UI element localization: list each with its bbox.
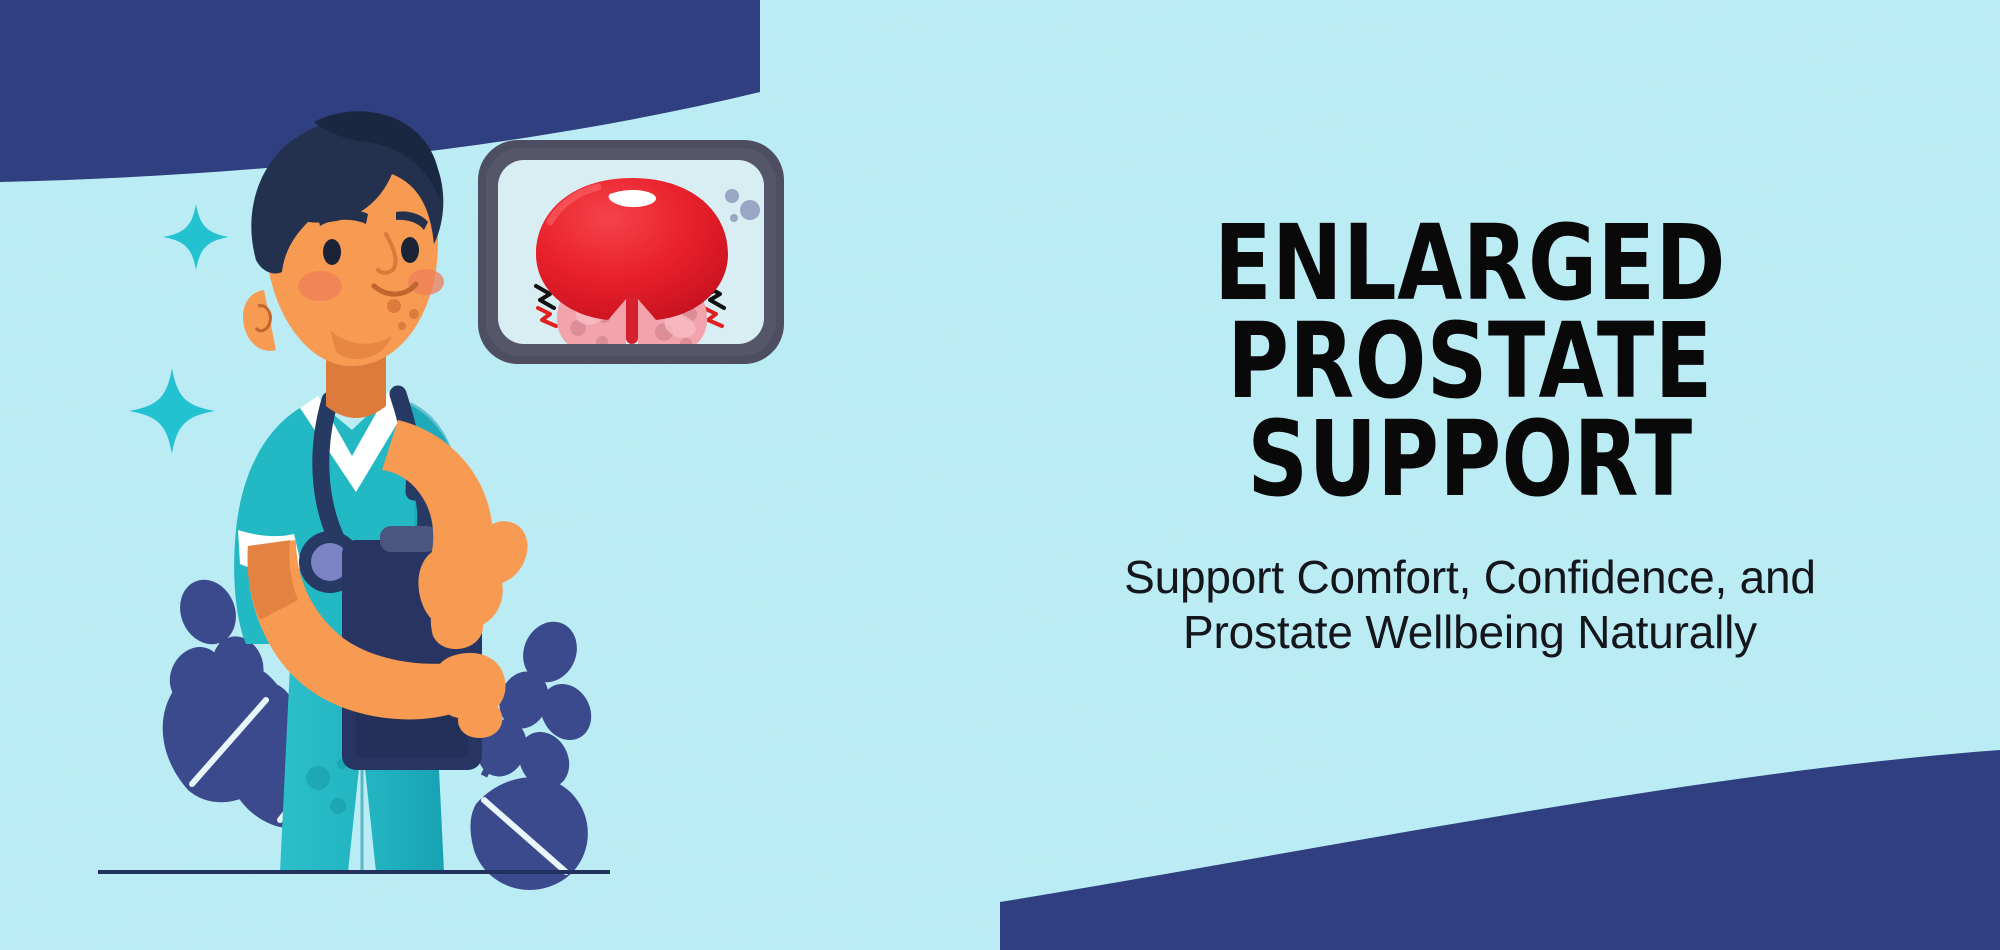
page-title: ENLARGED PROSTATE SUPPORT <box>1047 215 1893 508</box>
headline-group: ENLARGED PROSTATE SUPPORT Support Comfor… <box>1000 215 1940 661</box>
sparkle-icon <box>129 368 215 454</box>
foliage-right <box>470 613 601 890</box>
head <box>243 111 444 418</box>
bottom-right-wave-decoration <box>1000 750 2000 950</box>
doctor-illustration <box>80 100 860 900</box>
eye-left <box>323 239 341 265</box>
cheek-blush-right <box>408 269 444 295</box>
eye-right <box>401 237 419 263</box>
page-subtitle: Support Comfort, Confidence, and Prostat… <box>1000 550 1940 660</box>
promo-banner: ENLARGED PROSTATE SUPPORT Support Comfor… <box>0 0 2000 950</box>
sparkle-icon <box>163 204 229 270</box>
cheek-blush-left <box>298 271 342 301</box>
tablet-device[interactable] <box>478 140 784 364</box>
